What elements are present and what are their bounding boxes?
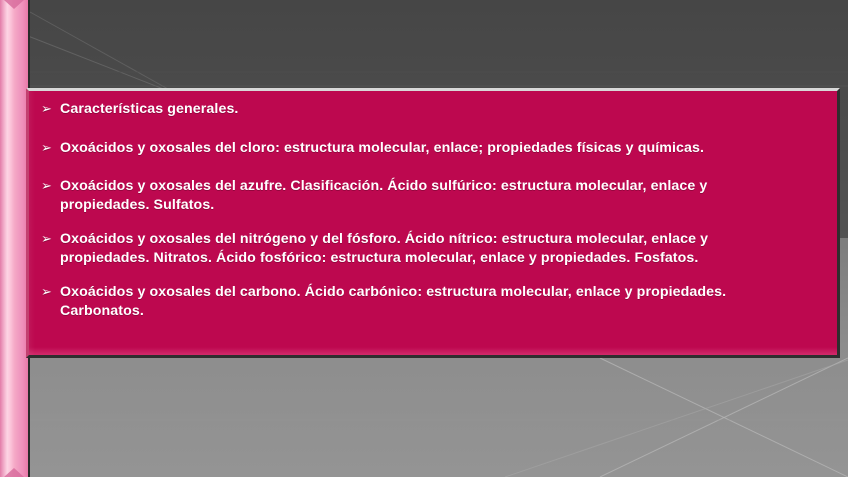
list-item-text: Oxoácidos y oxosales del azufre. Clasifi…	[60, 177, 825, 215]
arrow-bullet-icon: ➢	[41, 230, 60, 249]
content-panel-inner: ➢ Características generales. ➢ Oxoácidos…	[29, 91, 837, 355]
accent-bar-top-notch-icon	[4, 0, 24, 9]
list-item-text: Oxoácidos y oxosales del cloro: estructu…	[60, 139, 825, 158]
list-item: ➢ Oxoácidos y oxosales del nitrógeno y d…	[41, 230, 825, 268]
list-item-line: Características generales.	[60, 100, 825, 119]
arrow-bullet-icon: ➢	[41, 139, 60, 158]
list-item: ➢ Características generales.	[41, 100, 825, 119]
content-panel: ➢ Características generales. ➢ Oxoácidos…	[26, 88, 840, 358]
arrow-bullet-icon: ➢	[41, 177, 60, 196]
list-item-line: Oxoácidos y oxosales del azufre. Clasifi…	[60, 177, 825, 196]
list-item-line: Oxoácidos y oxosales del cloro: estructu…	[60, 139, 825, 158]
accent-bar-bottom-notch-icon	[4, 468, 24, 477]
left-accent-bar	[0, 0, 28, 477]
list-item-line: propiedades. Nitratos. Ácido fosfórico: …	[60, 249, 825, 268]
list-item: ➢ Oxoácidos y oxosales del carbono. Ácid…	[41, 283, 825, 321]
arrow-bullet-icon: ➢	[41, 100, 60, 119]
arrow-bullet-icon: ➢	[41, 283, 60, 302]
list-item: ➢ Oxoácidos y oxosales del azufre. Clasi…	[41, 177, 825, 215]
list-item-text: Oxoácidos y oxosales del nitrógeno y del…	[60, 230, 825, 268]
list-item-line: Carbonatos.	[60, 302, 825, 321]
list-item-line: propiedades. Sulfatos.	[60, 196, 825, 215]
list-item-line: Oxoácidos y oxosales del nitrógeno y del…	[60, 230, 825, 249]
list-item-text: Oxoácidos y oxosales del carbono. Ácido …	[60, 283, 825, 321]
slide-canvas: ➢ Características generales. ➢ Oxoácidos…	[0, 0, 848, 477]
list-item: ➢ Oxoácidos y oxosales del cloro: estruc…	[41, 139, 825, 158]
list-item-text: Características generales.	[60, 100, 825, 119]
list-item-line: Oxoácidos y oxosales del carbono. Ácido …	[60, 283, 825, 302]
